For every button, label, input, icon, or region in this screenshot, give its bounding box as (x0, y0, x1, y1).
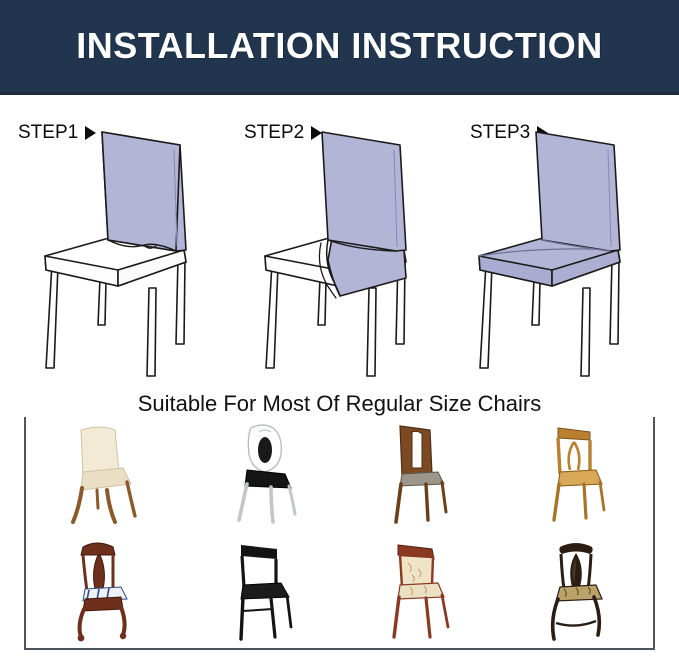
page-title: INSTALLATION INSTRUCTION (76, 25, 603, 67)
step-3-illustration (442, 110, 657, 378)
chair-thumb-honey-oak-lyre-back-chair (497, 415, 655, 533)
step-2: STEP2 (228, 100, 443, 380)
chair-thumb-dark-walnut-splat-back-chair (340, 415, 498, 533)
header-underline (0, 92, 679, 95)
header-banner: INSTALLATION INSTRUCTION (0, 0, 679, 92)
chair-thumb-mahogany-chippendale-chair-striped-seat (24, 533, 182, 651)
chair-thumb-black-wood-chair-leather-seat (182, 533, 340, 651)
step-3: STEP3 (442, 100, 657, 380)
suitable-chairs-grid (24, 415, 655, 650)
suitable-chairs-title-text: Suitable For Most Of Regular Size Chairs (126, 391, 554, 416)
suitable-chairs-title: Suitable For Most Of Regular Size Chairs (0, 391, 679, 417)
chair-thumb-mahogany-chair-floral-upholstery (340, 533, 498, 651)
step-1: STEP1 (8, 100, 223, 380)
steps-section: STEP1 (0, 100, 679, 380)
chair-thumb-dark-ornate-chair-tapestry-seat (497, 533, 655, 651)
chair-thumb-cream-upholstered-parsons-chair (24, 415, 182, 533)
step-2-illustration (228, 110, 443, 378)
installation-instruction-page: INSTALLATION INSTRUCTION STEP1 (0, 0, 679, 657)
chair-thumb-silver-ornate-chair-black-seat (182, 415, 340, 533)
step-1-illustration (8, 110, 223, 378)
